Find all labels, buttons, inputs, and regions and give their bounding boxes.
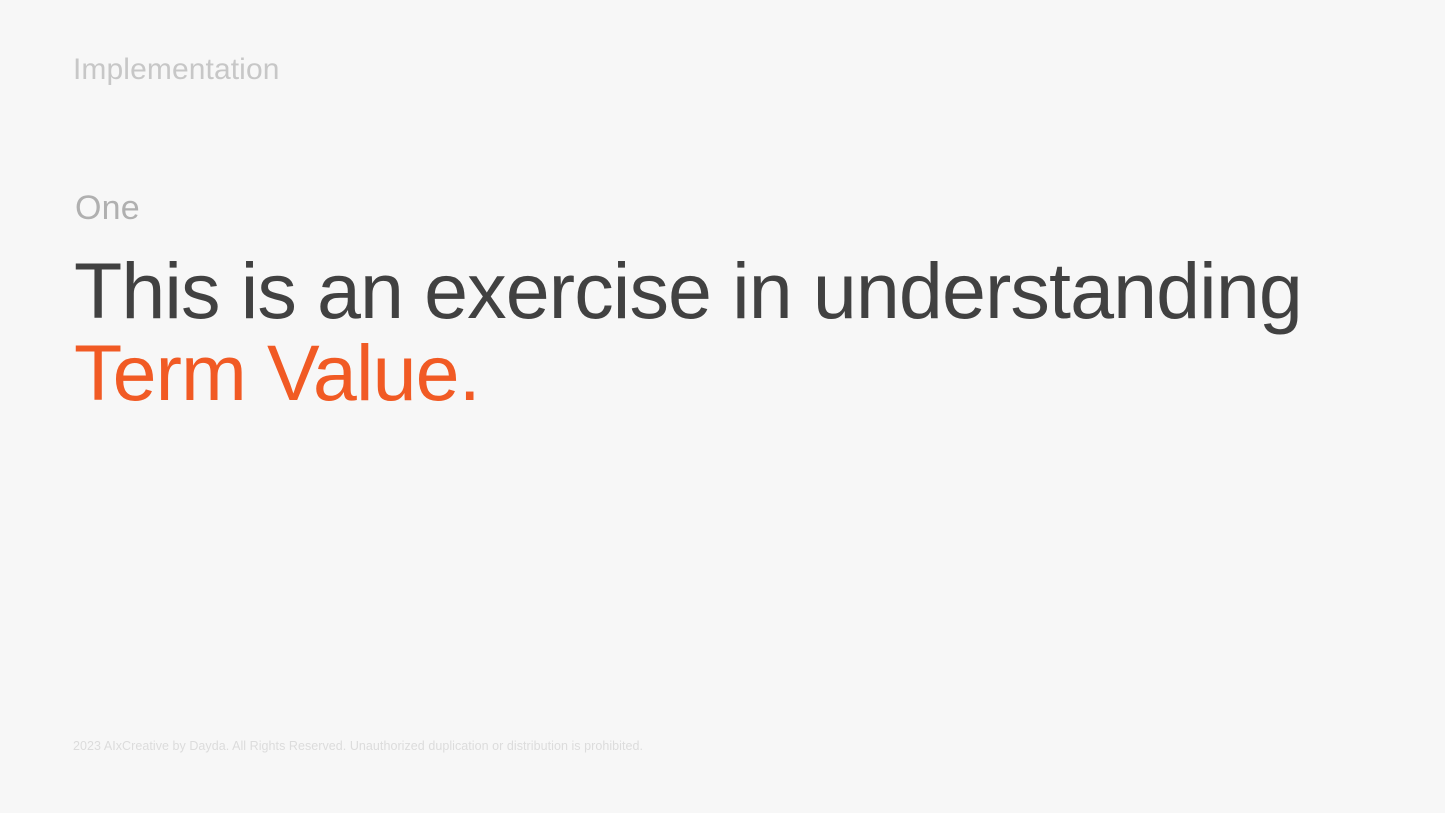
headline-line-primary: This is an exercise in understanding [74, 250, 1374, 332]
slide-eyebrow-label: One [75, 188, 140, 229]
section-header: Implementation [73, 52, 280, 88]
slide-headline: This is an exercise in understanding Ter… [74, 250, 1374, 414]
headline-line-accent: Term Value. [74, 332, 1374, 414]
footer-copyright: 2023 AIxCreative by Dayda. All Rights Re… [73, 739, 643, 755]
presentation-slide: Implementation One This is an exercise i… [0, 0, 1445, 813]
